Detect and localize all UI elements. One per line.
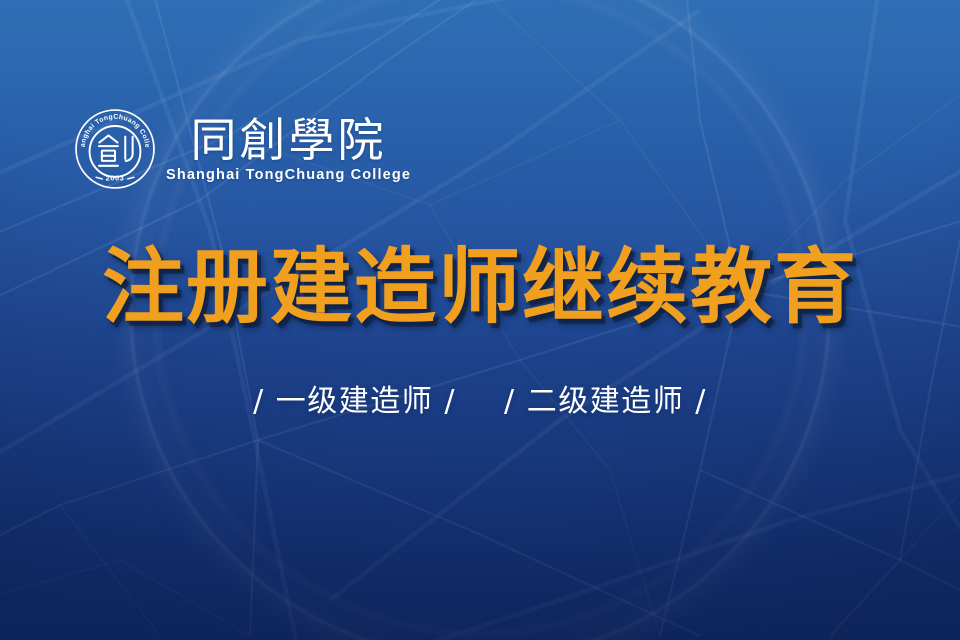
subtitle-level-one: / 一级建造师 / — [253, 384, 456, 419]
subtitle: / 一级建造师 / / 二级建造师 / — [0, 382, 960, 423]
subtitle-level-two: / 二级建造师 / — [504, 384, 707, 419]
promo-banner: Shanghai TongChuang College — [0, 0, 960, 640]
college-wordmark: 同創學院 Shanghai TongChuang College — [166, 115, 411, 183]
svg-text:2003: 2003 — [106, 174, 125, 183]
college-name-en: Shanghai TongChuang College — [166, 167, 411, 183]
college-logo[interactable]: Shanghai TongChuang College — [74, 108, 411, 190]
page-title: 注册建造师继续教育 — [0, 246, 960, 330]
tongchuang-seal-icon: Shanghai TongChuang College — [74, 108, 156, 190]
college-name-cn: 同創學院 — [191, 117, 387, 165]
